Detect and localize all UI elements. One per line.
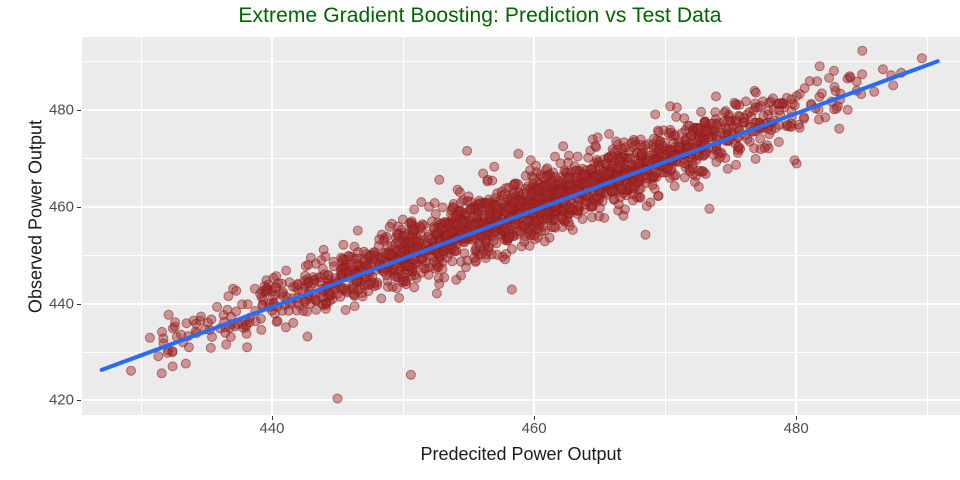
y-tick-label: 440 — [49, 295, 74, 312]
y-axis-title: Observed Power Output — [26, 67, 47, 367]
y-tick-label: 460 — [49, 198, 74, 215]
regression-line — [102, 61, 938, 370]
y-tick-label: 480 — [49, 101, 74, 118]
y-tick-mark — [77, 304, 81, 305]
x-tick-label: 440 — [259, 420, 284, 437]
y-tick-label: 420 — [49, 392, 74, 409]
fitted-line-layer — [82, 37, 960, 415]
x-tick-label: 480 — [784, 420, 809, 437]
plot-panel — [82, 37, 960, 415]
chart-figure: Extreme Gradient Boosting: Prediction vs… — [0, 0, 960, 480]
y-tick-mark — [77, 400, 81, 401]
x-tick-label: 460 — [522, 420, 547, 437]
chart-title: Extreme Gradient Boosting: Prediction vs… — [0, 4, 960, 28]
x-axis-title: Predecited Power Output — [82, 444, 960, 465]
y-tick-mark — [77, 110, 81, 111]
y-tick-mark — [77, 207, 81, 208]
